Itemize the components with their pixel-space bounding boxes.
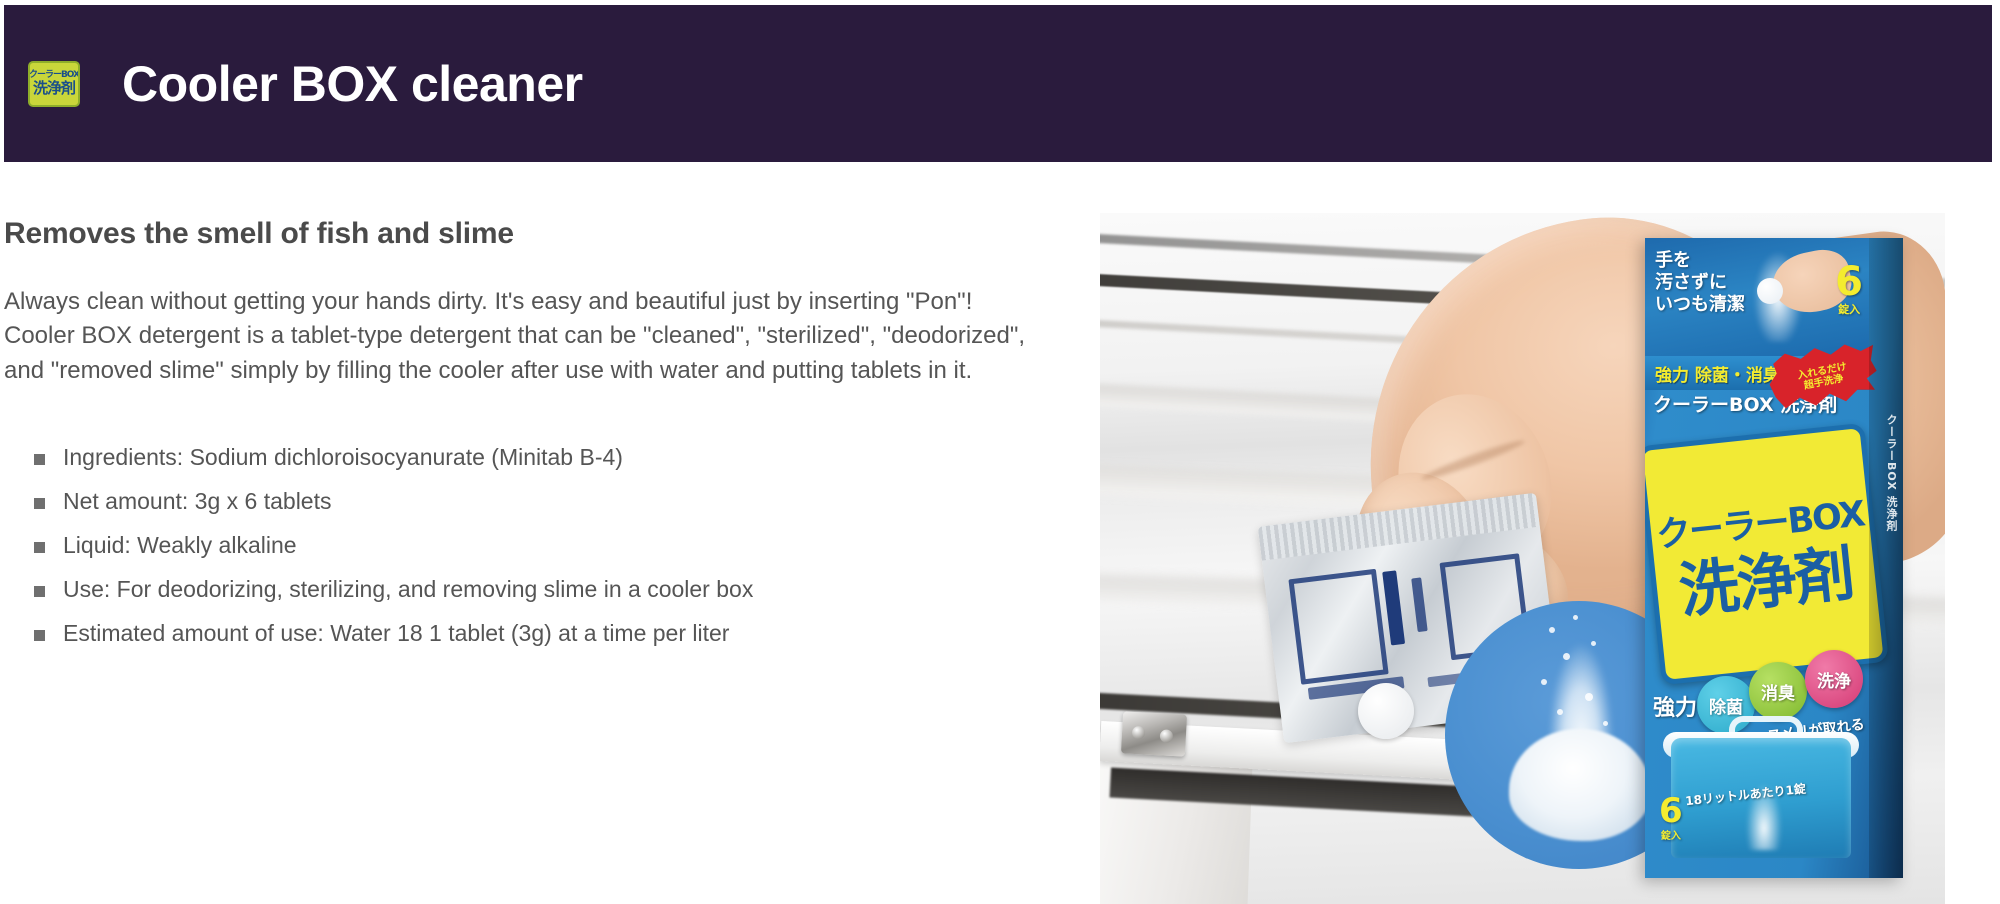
sachet-label-mark (1382, 570, 1405, 645)
list-item: Ingredients: Sodium dichloroisocyanurate… (34, 446, 1064, 469)
package-count-badge: 6 錠入 (1835, 264, 1863, 317)
product-logo-icon: クーラーBOX 洗浄剤 (28, 61, 80, 107)
cleaner-tablet (1358, 683, 1414, 739)
package-count-number: 6 (1835, 264, 1863, 300)
section-heading: Removes the smell of fish and slime (4, 217, 1064, 251)
page-header-banner: クーラーBOX 洗浄剤 Cooler BOX cleaner (4, 5, 1992, 162)
package-main-label: クーラーBOX 洗浄剤 (1645, 423, 1889, 686)
package-top-copy: 手を 汚さずに いつも清潔 (1655, 250, 1745, 316)
benefit-badge: 消臭 (1749, 662, 1807, 720)
package-strong-text: 強力 (1653, 690, 1697, 722)
sachet-label-mark (1411, 577, 1428, 632)
benefit-badge: 洗浄 (1805, 650, 1863, 708)
package-spine-text: クーラーBOX 洗浄剤 (1883, 414, 1899, 532)
list-item: Net amount: 3g x 6 tablets (34, 490, 1064, 513)
package-count-unit: 錠入 (1835, 301, 1863, 317)
main-content: Removes the smell of fish and slime Alwa… (0, 162, 2000, 904)
package-spine (1869, 238, 1903, 878)
package-bottom-count-badge: 6 錠入 (1659, 796, 1683, 842)
description-paragraph: Always clean without getting your hands … (4, 285, 1034, 388)
dissolving-tablet (1509, 729, 1651, 841)
cooler-latch-left-icon (1121, 711, 1187, 756)
package-main-label-line-2: 洗浄剤 (1676, 543, 1855, 621)
product-photo: 手を 汚さずに いつも清潔 6 錠入 強力 除菌・消臭 クーラーBOX 洗浄剤 … (1100, 213, 1945, 904)
product-package: 手を 汚さずに いつも清潔 6 錠入 強力 除菌・消臭 クーラーBOX 洗浄剤 … (1645, 238, 1903, 878)
list-item: Estimated amount of use: Water 18 1 tabl… (34, 622, 1064, 645)
package-benefit-badges: 除菌 消臭 洗浄 (1697, 650, 1872, 716)
product-logo-icon-bottom-text: 洗浄剤 (33, 81, 75, 96)
package-pour-graphic (1741, 758, 1787, 850)
list-item: Use: For deodorizing, sterilizing, and r… (34, 578, 1064, 601)
page-title: Cooler BOX cleaner (122, 55, 583, 113)
package-band-text: 強力 除菌・消臭 (1655, 361, 1780, 386)
list-item: Liquid: Weakly alkaline (34, 534, 1064, 557)
sachet-label-mark (1288, 569, 1388, 685)
package-bottom-count-number: 6 (1659, 796, 1683, 827)
specification-list: Ingredients: Sodium dichloroisocyanurate… (4, 446, 1064, 645)
text-column: Removes the smell of fish and slime Alwa… (4, 217, 1064, 666)
package-bottom-count-unit: 錠入 (1659, 827, 1683, 842)
package-tablet-graphic (1757, 278, 1783, 304)
